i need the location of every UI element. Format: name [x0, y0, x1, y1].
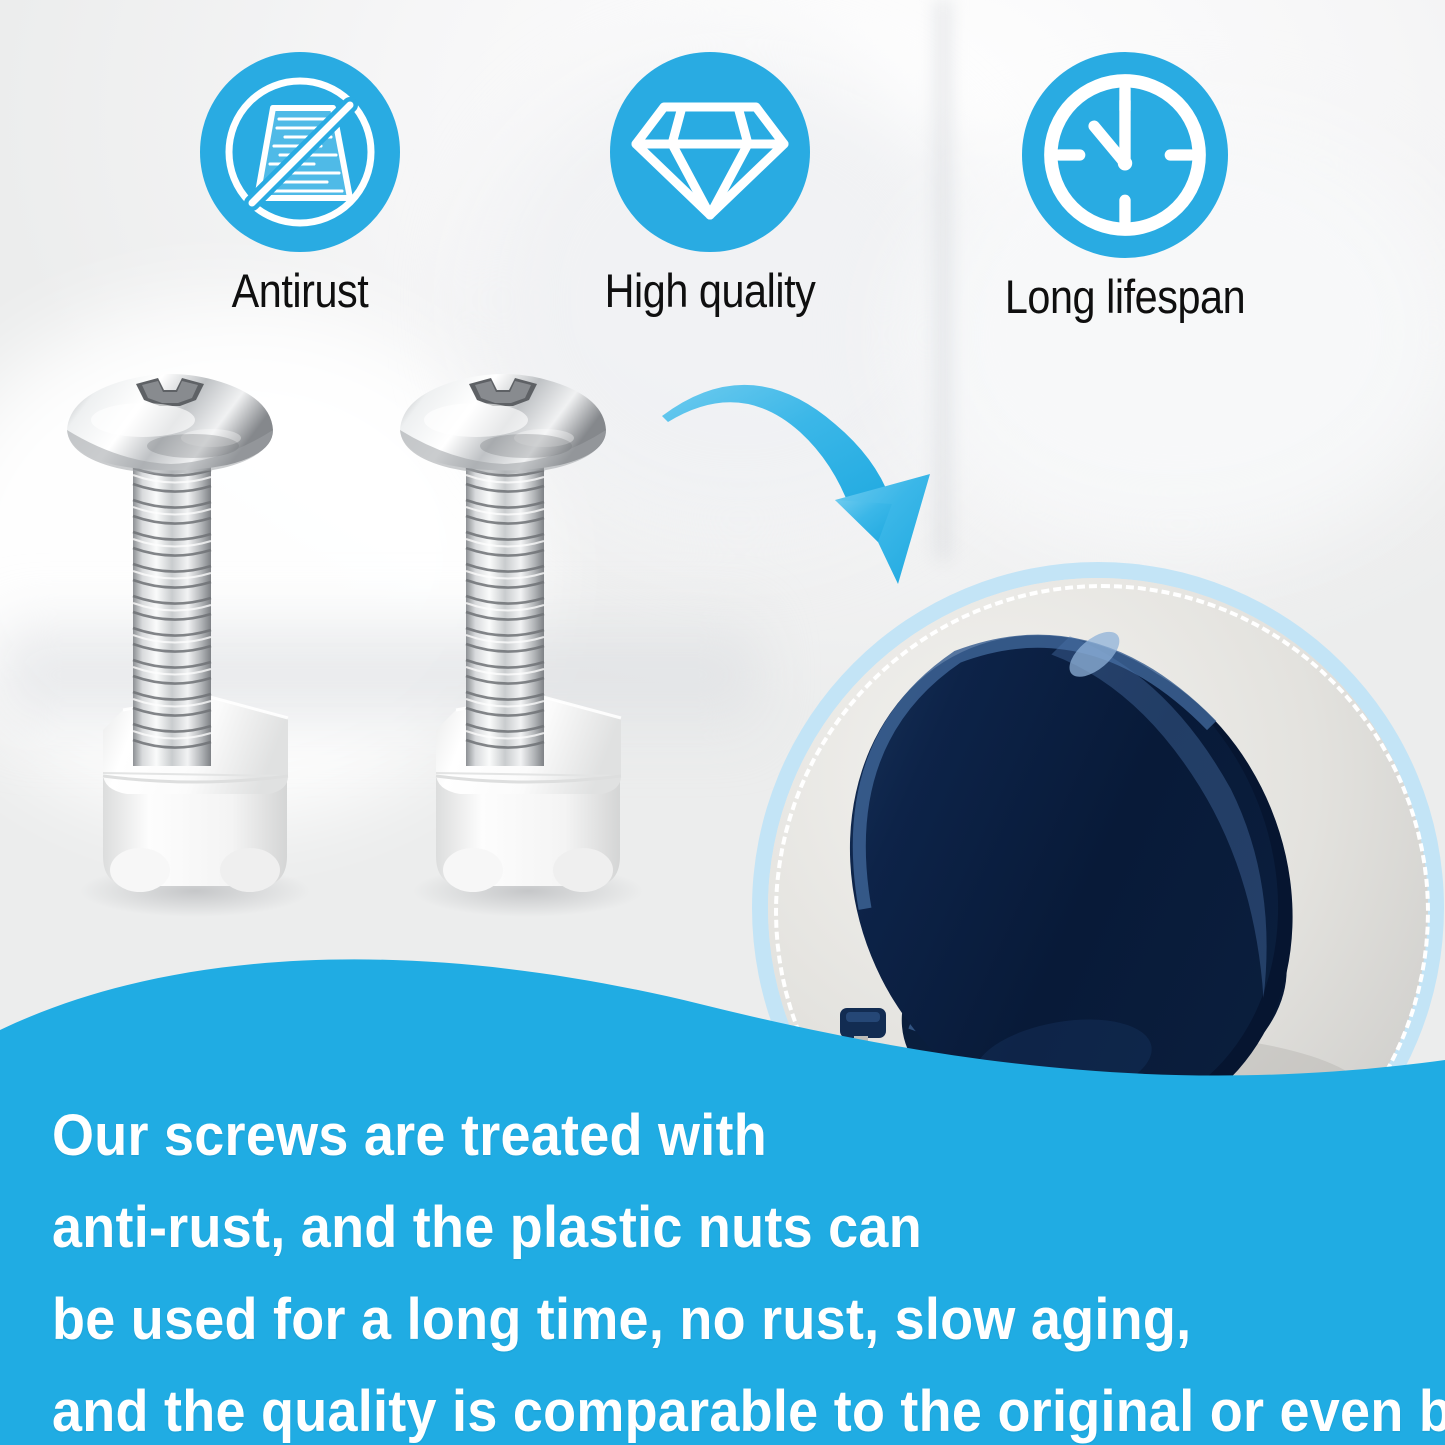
feature-antirust: Antirust [155, 52, 445, 315]
diamond-icon [610, 52, 810, 252]
feature-badge-row: Antirust [0, 52, 1445, 342]
curved-down-arrow-icon [630, 352, 970, 602]
feature-long-lifespan: Long lifespan [975, 52, 1275, 321]
feature-label-high-quality: High quality [582, 266, 837, 315]
bottom-banner: Our screws are treated with anti-rust, a… [0, 900, 1445, 1445]
feature-high-quality: High quality [565, 52, 855, 315]
banner-line-1: Our screws are treated with [52, 1090, 1345, 1182]
feature-label-long-lifespan: Long lifespan [993, 272, 1257, 321]
feature-label-antirust: Antirust [172, 266, 427, 315]
banner-line-2: anti-rust, and the plastic nuts can [52, 1182, 1345, 1274]
product-feature-graphic: Antirust [0, 0, 1445, 1445]
clock-icon [1022, 52, 1228, 258]
banner-line-3: be used for a long time, no rust, slow a… [52, 1274, 1345, 1366]
no-rust-icon [200, 52, 400, 252]
screw-bolt-left [45, 358, 345, 918]
banner-line-4: and the quality is comparable to the ori… [52, 1366, 1345, 1445]
banner-text-block: Our screws are treated with anti-rust, a… [52, 1090, 1442, 1445]
